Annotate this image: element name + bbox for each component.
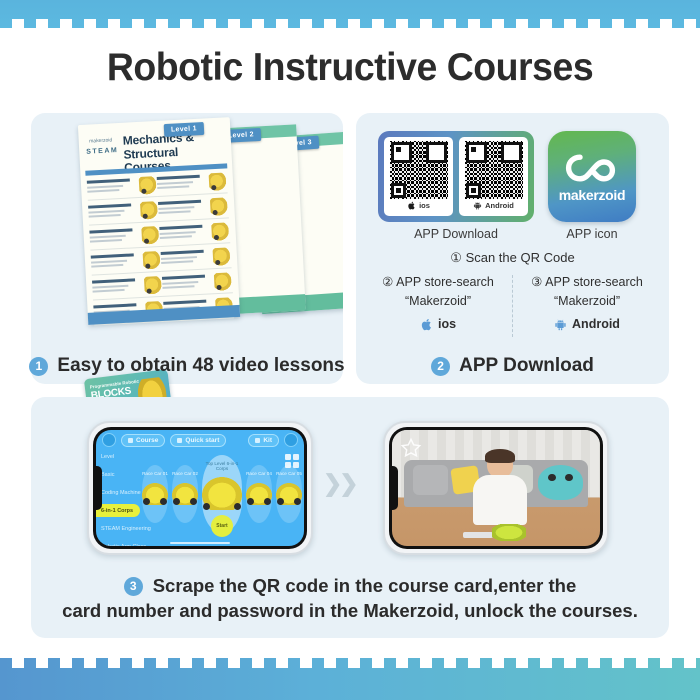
button-kit-label: Kit xyxy=(263,437,272,444)
instructor-body xyxy=(473,475,527,525)
store-line2-android: “Makerzoid” xyxy=(513,292,661,311)
lesson-column-right xyxy=(157,171,235,324)
sheet-brand: makerzoid xyxy=(86,137,116,145)
tab-course[interactable]: Course xyxy=(121,434,165,447)
apple-icon xyxy=(407,201,416,210)
step-badge-2: 2 xyxy=(431,357,450,376)
phone-bezel xyxy=(389,427,603,549)
home-indicator xyxy=(170,542,230,545)
store-os-ios-text: ios xyxy=(438,315,456,334)
sidebar-item-coding-machine[interactable]: Coding Machine xyxy=(96,486,140,499)
lesson-item xyxy=(157,171,228,197)
table-phone-prop xyxy=(463,532,493,538)
start-button[interactable]: Start xyxy=(211,515,233,537)
sidebar-item-6in1-corps[interactable]: 6-in-1 Corps xyxy=(96,504,140,517)
star-icon xyxy=(400,437,422,459)
quick-start-icon xyxy=(177,438,182,443)
qr-code-android-icon[interactable] xyxy=(465,141,523,199)
course-sheet-level-1: makerzoid STEAM Mechanics & Structural C… xyxy=(78,117,240,325)
carousel-item-label: Race Car 02 xyxy=(172,471,198,476)
carousel-item-label: Race Car 01 xyxy=(142,471,168,476)
store-num-ios: ② xyxy=(382,275,393,289)
sidebar-item-basic[interactable]: Basic xyxy=(96,468,140,481)
panel-steps: Course Quick start Kit xyxy=(31,397,669,638)
scan-qr-instruction: ① Scan the QR Code xyxy=(356,250,669,266)
caption-step3-row1: 3 Scrape the QR code in the course card,… xyxy=(124,575,577,597)
infinity-icon xyxy=(562,151,622,185)
robot-car-prop xyxy=(492,524,526,541)
app-sidebar: Level Basic Coding Machine 6-in-1 Corps … xyxy=(96,450,140,540)
qr-card-android[interactable]: Android xyxy=(459,137,528,216)
kit-icon xyxy=(255,438,260,443)
app-top-bar: Course Quick start Kit xyxy=(96,432,304,448)
carousel-item[interactable]: Race Car 04 xyxy=(246,465,272,524)
qr-card-ios[interactable]: ios xyxy=(384,137,453,216)
carousel-item[interactable]: Race Car 02 xyxy=(172,465,198,524)
caption-step3: 3 Scrape the QR code in the course card,… xyxy=(31,575,669,622)
robot-thumbnail xyxy=(276,483,302,505)
course-icon xyxy=(128,438,133,443)
store-line2-ios: “Makerzoid” xyxy=(364,292,512,311)
app-icon-tile[interactable]: makerzoid xyxy=(548,131,636,222)
carousel-item-label: Top Level 6-in-1 Corps xyxy=(202,461,242,471)
video-lesson-frame[interactable] xyxy=(392,430,600,546)
caption-step3-line1: Scrape the QR code in the course card,en… xyxy=(153,575,577,597)
qr-label-ios: ios xyxy=(407,201,430,210)
lesson-column-left xyxy=(87,175,165,328)
panel-courses: OURSES Level 3 INE RSES Level 2 makerzoi… xyxy=(31,113,343,384)
caption-courses-text: Easy to obtain 48 video lessons xyxy=(57,355,344,377)
carousel-item-label: Race Car 05 xyxy=(276,471,302,476)
step-badge-1: 1 xyxy=(29,357,48,376)
lesson-item xyxy=(158,196,229,222)
store-os-android: Android xyxy=(513,315,661,334)
frog-plush xyxy=(538,465,584,500)
tab-course-label: Course xyxy=(136,437,158,444)
phone-bezel: Course Quick start Kit xyxy=(93,427,307,549)
app-icon-label: APP icon xyxy=(548,227,636,241)
apple-icon xyxy=(420,318,433,331)
qr-label-android: Android xyxy=(473,201,514,210)
phone-video-mockup xyxy=(383,421,609,555)
panel-app-download: ios Android makerzoid xyxy=(356,113,669,384)
grid-view-icon[interactable] xyxy=(285,454,299,468)
app-icon-name: makerzoid xyxy=(559,187,626,203)
sidebar-item-steam-engineering[interactable]: STEAM Engineering xyxy=(96,522,140,535)
qr-label-ios-text: ios xyxy=(419,201,430,210)
lesson-item xyxy=(88,200,159,226)
bottom-band-teeth xyxy=(0,658,700,668)
store-instruction-columns: ② APP store-search “Makerzoid” ios ③ APP… xyxy=(364,273,661,345)
store-column-android: ③ APP store-search “Makerzoid” Android xyxy=(513,273,661,345)
robot-thumbnail xyxy=(142,483,168,505)
store-line1-android: APP store-search xyxy=(545,275,643,289)
store-column-ios: ② APP store-search “Makerzoid” ios xyxy=(364,273,512,345)
phone-screen-app: Course Quick start Kit xyxy=(96,430,304,546)
instructor-hair xyxy=(485,449,515,463)
lesson-item xyxy=(162,271,233,297)
store-os-ios: ios xyxy=(364,315,512,334)
carousel-item[interactable]: Race Car 01 xyxy=(142,465,168,524)
robot-thumbnail xyxy=(246,483,272,505)
caption-step3-line2: card number and password in the Makerzoi… xyxy=(62,600,638,622)
robot-thumbnail xyxy=(172,483,198,505)
store-num-android: ③ xyxy=(531,275,542,289)
cushion xyxy=(413,465,448,495)
course-sheets-illustration: OURSES Level 3 INE RSES Level 2 makerzoi… xyxy=(31,113,343,341)
tab-quick-start-label: Quick start xyxy=(185,437,219,444)
lesson-item xyxy=(92,275,163,301)
lesson-item xyxy=(89,225,160,251)
gear-icon[interactable] xyxy=(102,433,116,447)
phone-screen-video xyxy=(392,430,600,546)
sidebar-item-robotic-arm[interactable]: Robotic Arm Class xyxy=(96,540,140,546)
lesson-item xyxy=(159,221,230,247)
step-badge-3: 3 xyxy=(124,577,143,596)
lesson-item xyxy=(161,246,232,272)
robot-thumbnail xyxy=(202,477,242,510)
store-os-android-text: Android xyxy=(572,315,620,334)
tab-quick-start[interactable]: Quick start xyxy=(170,434,226,447)
qr-code-ios-icon[interactable] xyxy=(390,141,448,199)
model-carousel: Race Car 01 Race Car 02 Top Level 6-in-1… xyxy=(142,452,300,536)
app-home-screen: Course Quick start Kit xyxy=(96,430,304,546)
caption-courses: 1 Easy to obtain 48 video lessons xyxy=(31,355,343,377)
app-download-label: APP Download xyxy=(378,227,534,241)
phone-notch xyxy=(93,466,102,510)
lesson-item xyxy=(91,250,162,276)
android-icon xyxy=(473,201,482,210)
sidebar-item-level[interactable]: Level xyxy=(96,450,140,463)
page-title: Robotic Instructive Courses xyxy=(14,46,686,90)
instructor-figure xyxy=(471,451,529,523)
carousel-item-selected[interactable]: Top Level 6-in-1 Corps Start xyxy=(202,455,242,532)
sheet-sub-brand: STEAM xyxy=(86,147,116,157)
phone-notch xyxy=(389,466,398,510)
carousel-item[interactable]: Race Car 05 xyxy=(276,465,302,524)
button-kit[interactable]: Kit xyxy=(248,434,279,447)
qr-code-group: ios Android xyxy=(378,131,534,222)
caption-app-download: 2 APP Download xyxy=(356,355,669,377)
caption-app-download-text: APP Download xyxy=(459,355,594,377)
phone-app-mockup: Course Quick start Kit xyxy=(87,421,313,555)
top-band-teeth xyxy=(0,19,700,28)
android-icon xyxy=(554,318,567,331)
level-tab-1: Level 1 xyxy=(164,122,204,137)
infographic-page: Robotic Instructive Courses OURSES Level… xyxy=(0,0,700,700)
compass-icon[interactable] xyxy=(284,433,298,447)
bottom-decorative-band xyxy=(0,658,700,700)
lesson-item xyxy=(87,175,158,201)
top-decorative-band xyxy=(0,0,700,28)
carousel-item-label: Race Car 04 xyxy=(246,471,272,476)
arrow-icon: ❯❯ xyxy=(323,470,356,497)
store-line1-ios: APP store-search xyxy=(396,275,494,289)
qr-label-android-text: Android xyxy=(485,201,514,210)
